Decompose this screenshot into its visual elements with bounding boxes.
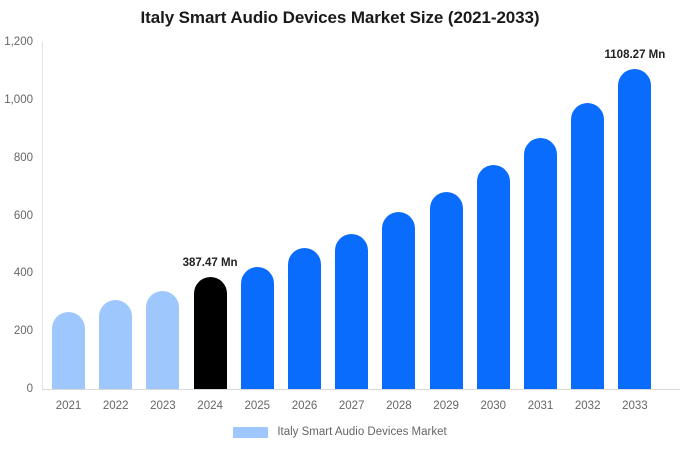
bar[interactable] — [288, 248, 321, 389]
y-axis-tick-label: 1,200 — [0, 36, 33, 48]
chart-title: Italy Smart Audio Devices Market Size (2… — [0, 8, 680, 28]
legend-item[interactable]: Italy Smart Audio Devices Market — [233, 426, 446, 438]
y-axis-tick-label: 0 — [0, 383, 33, 395]
y-axis-tick-label: 200 — [0, 325, 33, 337]
bar[interactable] — [99, 300, 132, 389]
bar[interactable] — [524, 138, 557, 389]
bar[interactable] — [571, 103, 604, 389]
data-label: 1108.27 Mn — [605, 49, 666, 61]
bar[interactable] — [618, 69, 651, 389]
y-axis-tick-label: 800 — [0, 152, 33, 164]
data-label: 387.47 Mn — [183, 257, 238, 269]
y-axis-tick-label: 1,000 — [0, 94, 33, 106]
legend-label: Italy Smart Audio Devices Market — [277, 426, 446, 438]
bar[interactable] — [335, 234, 368, 389]
bar[interactable] — [241, 267, 274, 389]
x-axis-tick-label: 2033 — [605, 400, 665, 412]
bar[interactable] — [146, 291, 179, 389]
bar[interactable] — [430, 192, 463, 389]
chart-legend: Italy Smart Audio Devices Market — [0, 426, 680, 438]
x-axis-line — [42, 389, 680, 390]
bar[interactable] — [52, 312, 85, 389]
y-axis-tick-label: 400 — [0, 267, 33, 279]
bar[interactable] — [382, 212, 415, 389]
plot-area — [42, 42, 680, 389]
legend-swatch-icon — [233, 427, 268, 438]
bar[interactable] — [477, 165, 510, 389]
bar[interactable] — [194, 277, 227, 389]
bar-chart: Italy Smart Audio Devices Market Size (2… — [0, 0, 680, 450]
y-axis-tick-label: 600 — [0, 210, 33, 222]
